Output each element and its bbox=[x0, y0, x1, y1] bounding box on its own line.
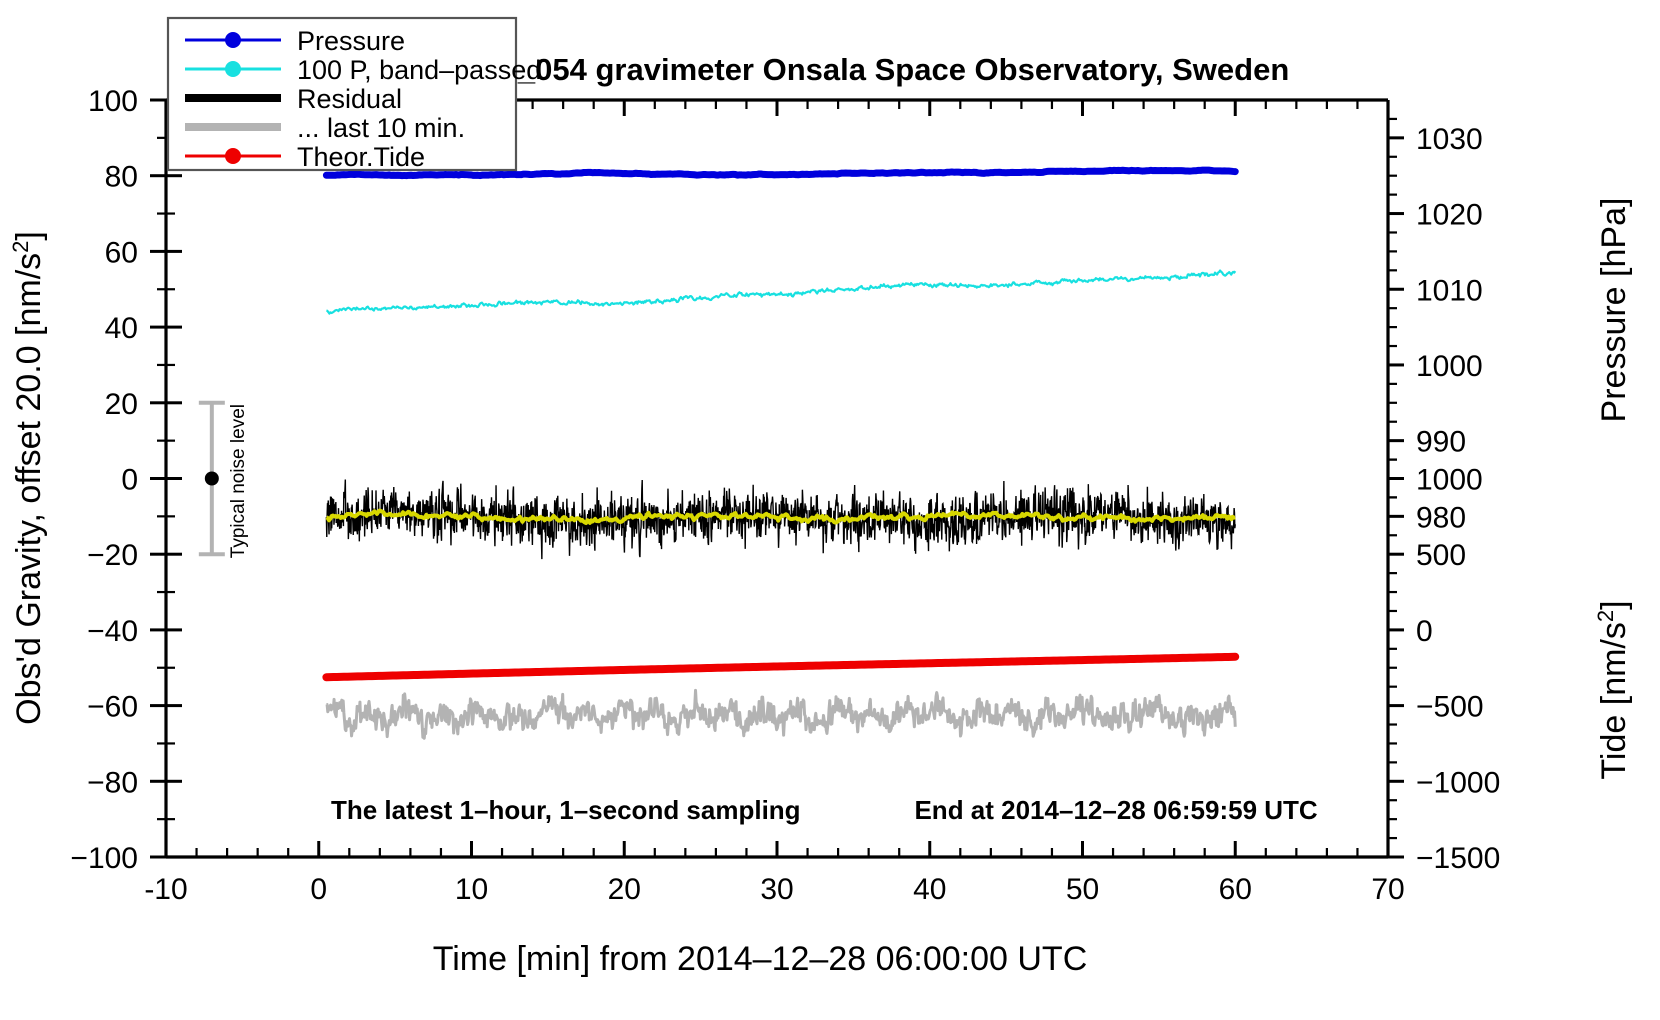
pressure-axis-tick-label: 1010 bbox=[1416, 274, 1483, 307]
tide-axis-tick-label: 500 bbox=[1416, 539, 1466, 572]
legend-item-label: ... last 10 min. bbox=[297, 113, 465, 143]
x-axis-tick-label: 50 bbox=[1066, 873, 1099, 906]
x-axis-tick-label: -10 bbox=[144, 873, 187, 906]
y-axis-tick-label: 100 bbox=[88, 85, 138, 118]
y-axis-tick-label: 20 bbox=[105, 388, 138, 421]
y-axis-tick-label: 40 bbox=[105, 312, 138, 345]
x-axis-tick-label: 30 bbox=[760, 873, 793, 906]
gravimeter-time-series-chart: -10010203040506070100806040200−20−40−60−… bbox=[0, 0, 1660, 1020]
noise-bar-center-dot bbox=[205, 472, 219, 486]
y-axis-tick-label: 80 bbox=[105, 161, 138, 194]
y-axis-tick-label: −20 bbox=[87, 539, 138, 572]
bottom-left-note: The latest 1–hour, 1–second sampling bbox=[331, 795, 801, 825]
y-axis-label-pressure: Pressure [hPa] bbox=[1595, 198, 1633, 423]
pressure-axis-tick-label: 1020 bbox=[1416, 199, 1483, 232]
y-axis-tick-label: −40 bbox=[87, 615, 138, 648]
y-axis-label-left: Obs'd Gravity, offset 20.0 [nm/s2] bbox=[8, 231, 49, 725]
legend-marker-dot bbox=[225, 61, 241, 77]
legend-marker-dot bbox=[225, 148, 241, 164]
x-axis-label: Time [min] from 2014–12–28 06:00:00 UTC bbox=[433, 940, 1088, 978]
tide-axis-tick-label: −1500 bbox=[1416, 842, 1500, 875]
pressure-axis-tick-label: 980 bbox=[1416, 501, 1466, 534]
tide-axis-tick-label: −1000 bbox=[1416, 766, 1500, 799]
pressure-axis-tick-label: 1030 bbox=[1416, 123, 1483, 156]
tide-axis-tick-label: 0 bbox=[1416, 615, 1433, 648]
pressure-axis-tick-label: 1000 bbox=[1416, 350, 1483, 383]
noise-bar-label: Typical noise level bbox=[228, 404, 249, 558]
y-axis-tick-label: −80 bbox=[87, 766, 138, 799]
y-axis-tick-label: 0 bbox=[121, 464, 138, 497]
chart-legend[interactable]: Pressure100 P, band–passedResidual... la… bbox=[168, 18, 541, 172]
tide-axis-tick-label: −500 bbox=[1416, 691, 1484, 724]
tide-axis-tick-label: 1000 bbox=[1416, 464, 1483, 497]
legend-item-label: Residual bbox=[297, 84, 402, 114]
y-axis-label-tide: Tide [nm/s2] bbox=[1593, 600, 1634, 779]
page-title: SCG_054 gravimeter Onsala Space Observat… bbox=[451, 52, 1290, 87]
legend-item-label: 100 P, band–passed bbox=[297, 55, 541, 85]
x-axis-tick-label: 40 bbox=[913, 873, 946, 906]
chart-root: -10010203040506070100806040200−20−40−60−… bbox=[0, 0, 1660, 1020]
legend-item-label: Theor.Tide bbox=[297, 142, 425, 172]
x-axis-tick-label: 20 bbox=[608, 873, 641, 906]
legend-item-label: Pressure bbox=[297, 26, 405, 56]
legend-marker-dot bbox=[225, 32, 241, 48]
pressure-axis-tick-label: 990 bbox=[1416, 426, 1466, 459]
y-axis-tick-label: −60 bbox=[87, 691, 138, 724]
bottom-right-note: End at 2014–12–28 06:59:59 UTC bbox=[914, 795, 1317, 825]
x-axis-tick-label: 70 bbox=[1371, 873, 1404, 906]
y-axis-tick-label: 60 bbox=[105, 236, 138, 269]
y-axis-tick-label: −100 bbox=[70, 842, 138, 875]
x-axis-tick-label: 60 bbox=[1219, 873, 1252, 906]
x-axis-tick-label: 0 bbox=[310, 873, 327, 906]
x-axis-tick-label: 10 bbox=[455, 873, 488, 906]
